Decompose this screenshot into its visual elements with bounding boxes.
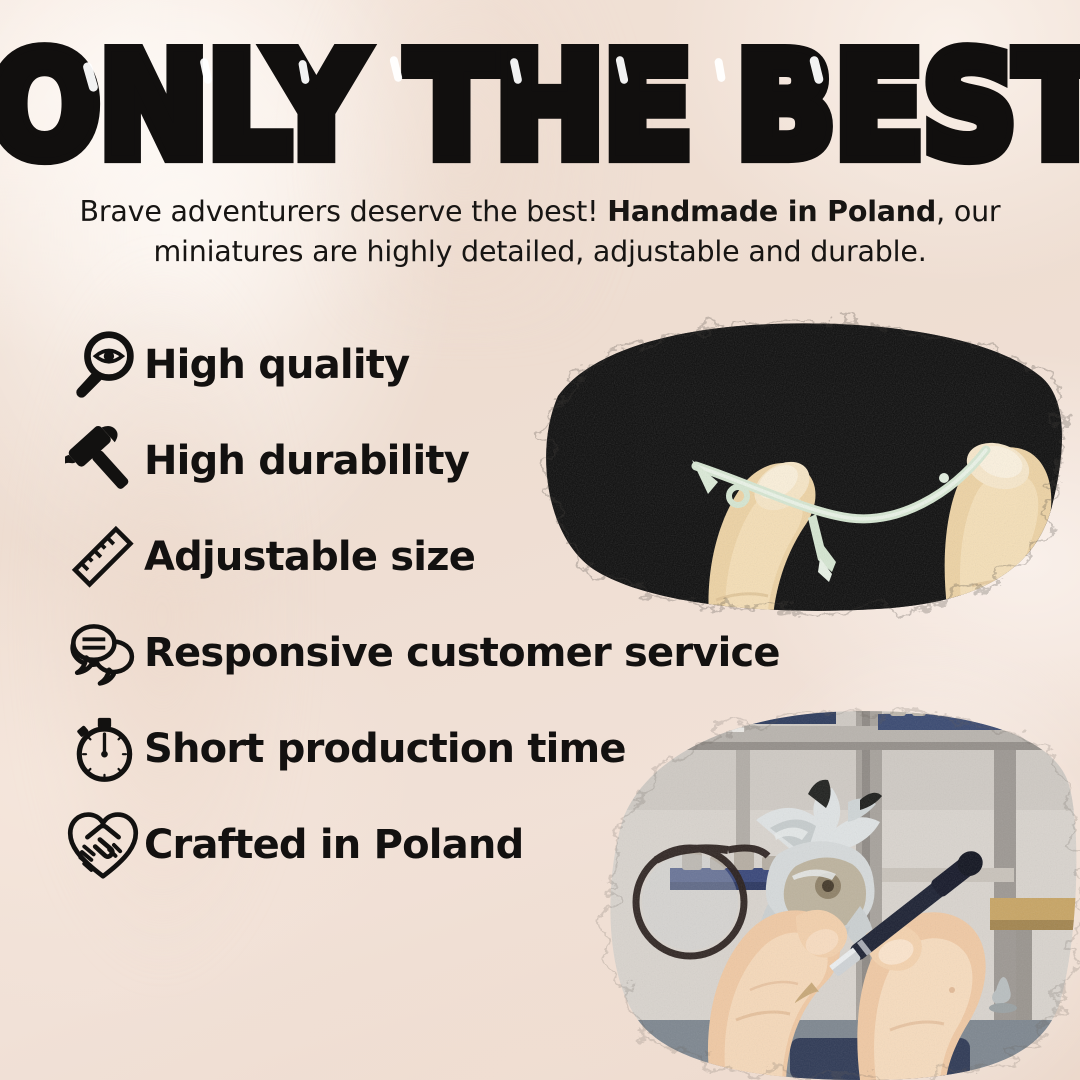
feature-label: Crafted in Poland [144, 822, 523, 868]
feature-item-adjustable-size: Adjustable size [62, 518, 782, 596]
feature-label: High durability [144, 438, 469, 484]
feature-item-crafted-in-poland: Crafted in Poland [62, 806, 782, 884]
page-title: ONLY THE BEST [0, 36, 1080, 179]
hammer-icon [62, 422, 144, 500]
feature-list: High quality High durability [62, 326, 782, 902]
feature-item-responsive-customer-service: Responsive customer service [62, 614, 782, 692]
feature-label: High quality [144, 342, 409, 388]
feature-item-short-production-time: Short production time [62, 710, 782, 788]
ruler-icon [62, 518, 144, 596]
magnifier-eye-icon [62, 326, 144, 404]
subtitle-lead: Brave adventurers deserve the best! [80, 195, 608, 228]
stopwatch-icon [62, 710, 144, 788]
feature-label: Responsive customer service [144, 630, 780, 676]
feature-label: Adjustable size [144, 534, 475, 580]
subtitle: Brave adventurers deserve the best! Hand… [60, 192, 1020, 273]
subtitle-bold: Handmade in Poland [607, 195, 936, 228]
feature-item-high-durability: High durability [62, 422, 782, 500]
promo-poster: ONLY THE BEST Brave adventurers deserve … [0, 0, 1080, 1080]
title-area: ONLY THE BEST [0, 36, 1080, 164]
feature-item-high-quality: High quality [62, 326, 782, 404]
handshake-heart-icon [62, 806, 144, 884]
chat-bubbles-icon [62, 614, 144, 692]
feature-label: Short production time [144, 726, 626, 772]
